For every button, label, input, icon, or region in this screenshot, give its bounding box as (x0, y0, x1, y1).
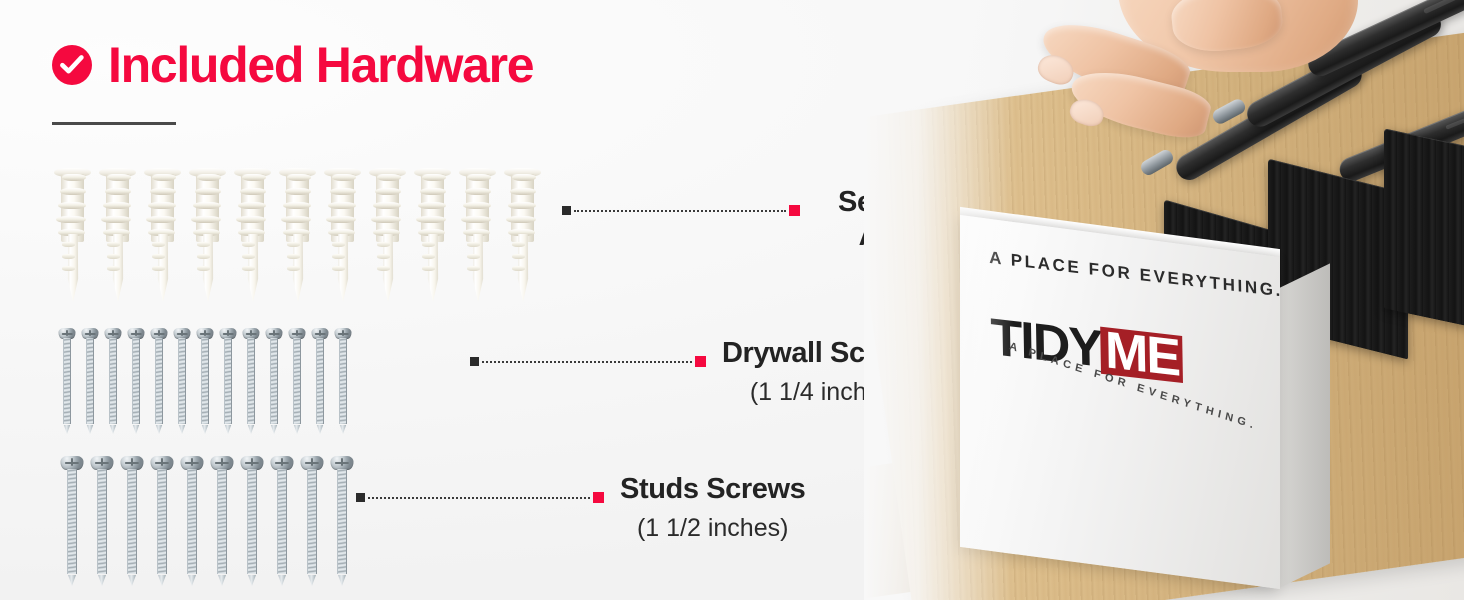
screw-part (208, 456, 236, 586)
anchor-part (322, 168, 363, 303)
drywall-parts-row (56, 328, 354, 434)
screw-part (125, 328, 147, 434)
anchor-part (367, 168, 408, 303)
screw-part (118, 456, 146, 586)
screw-part (328, 456, 356, 586)
check-circle-icon (52, 45, 92, 85)
infographic-canvas: Included Hardware Self DrillingAnchors D… (0, 0, 1464, 600)
anchor-part (187, 168, 228, 303)
screw-part (79, 328, 101, 434)
studs-parts-row (58, 456, 356, 586)
screw-part (332, 328, 354, 434)
leader-end-square (593, 492, 604, 503)
leader-start-square (470, 357, 479, 366)
screw-part (102, 328, 124, 434)
screw-part (58, 456, 86, 586)
screw-part (238, 456, 266, 586)
anchor-part (142, 168, 183, 303)
anchor-part (232, 168, 273, 303)
screw-part (268, 456, 296, 586)
leader-dashes (574, 210, 786, 212)
screw-part (178, 456, 206, 586)
anchor-part (52, 168, 93, 303)
leader-line (356, 492, 604, 503)
leader-start-square (562, 206, 571, 215)
callout-drywall-screws: Drywall Screws (1 1/4 inches) (470, 336, 929, 409)
screw-part (194, 328, 216, 434)
leader-dashes (482, 361, 692, 363)
callout-labels: Studs Screws (1 1/2 inches) (620, 472, 805, 545)
leader-end-square (695, 356, 706, 367)
screw-part (263, 328, 285, 434)
screw-part (286, 328, 308, 434)
leader-line (470, 356, 706, 367)
screw-part (88, 456, 116, 586)
screw-part (217, 328, 239, 434)
leader-line (562, 205, 800, 216)
anchor-part (502, 168, 543, 303)
screw-part (171, 328, 193, 434)
title-underline-rule (52, 122, 176, 125)
screw-part (148, 456, 176, 586)
anchor-part (97, 168, 138, 303)
hardware-group-studs-screws (58, 456, 356, 586)
callout-subtitle: (1 1/2 inches) (620, 512, 805, 545)
screw-part (148, 328, 170, 434)
screw-part (240, 328, 262, 434)
callout-studs-screws: Studs Screws (1 1/2 inches) (356, 472, 805, 545)
screw-part (309, 328, 331, 434)
anchors-parts-row (52, 168, 543, 303)
anchor-part (412, 168, 453, 303)
callout-title: Studs Screws (620, 472, 805, 506)
anchor-part (457, 168, 498, 303)
leader-dashes (368, 497, 590, 499)
page-title: Included Hardware (108, 40, 533, 90)
hardware-group-self-drilling-anchors (52, 168, 543, 303)
hardware-group-drywall-screws (56, 328, 354, 434)
screw-part (298, 456, 326, 586)
leader-end-square (789, 205, 800, 216)
organizer-divider (1384, 128, 1464, 331)
leader-start-square (356, 493, 365, 502)
product-photo: A PLACE FOR EVERYTHING. TIDY ME A PLACE … (864, 0, 1464, 600)
screw-part (56, 328, 78, 434)
box-side-panel (1278, 263, 1330, 588)
header: Included Hardware (52, 40, 533, 90)
title-row: Included Hardware (52, 40, 533, 90)
anchor-part (277, 168, 318, 303)
hand (1022, 0, 1352, 260)
